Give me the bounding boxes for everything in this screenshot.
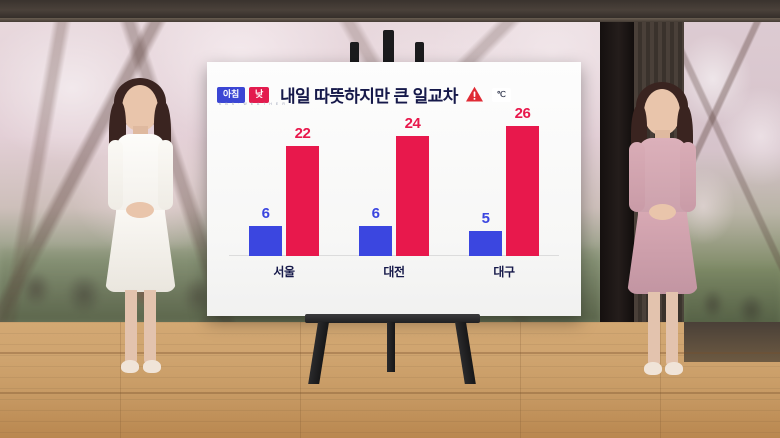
- broadcast-scene: 아침 낮 내일 따뜻하지만 큰 일교차 ℃ K B S · W E A T H …: [0, 0, 780, 438]
- bar-value-morning: 6: [249, 205, 282, 222]
- presenter-leg-right: [666, 292, 678, 366]
- easel-leg-top: [383, 30, 394, 64]
- floor-plank-line: [300, 322, 301, 438]
- bar-morning: [359, 226, 392, 256]
- presenter-leg-left: [125, 290, 137, 364]
- presenter-shoe-left: [644, 362, 662, 375]
- bar-pair: 5 26: [467, 130, 541, 256]
- bar-value-morning: 6: [359, 205, 392, 222]
- presenter-shoe-right: [143, 360, 161, 373]
- legend-badge-morning: 아침: [217, 87, 245, 103]
- chart-group-seoul: 6 22 서울: [247, 130, 321, 256]
- presenter-head: [644, 89, 680, 135]
- chart-city-label: 서울: [247, 263, 321, 280]
- floor-plank-line: [520, 322, 521, 438]
- bar-morning: [249, 226, 282, 256]
- chart-legend: 아침 낮: [217, 87, 269, 103]
- presenter-dress-skirt: [105, 210, 176, 292]
- presenter-arm-right: [158, 140, 173, 210]
- unit-label: ℃: [492, 88, 511, 102]
- presenter-head: [122, 85, 158, 131]
- presenter-right: [614, 82, 710, 400]
- board-title: 내일 따뜻하지만 큰 일교차: [280, 82, 458, 107]
- bar-day: [396, 136, 429, 256]
- bar-pair: 6 24: [357, 130, 431, 256]
- presenter-shoe-right: [665, 362, 683, 375]
- easel-leg-top: [415, 42, 424, 64]
- easel-leg-center: [387, 322, 395, 372]
- bar-morning: [469, 231, 502, 256]
- weather-board: 아침 낮 내일 따뜻하지만 큰 일교차 ℃ K B S · W E A T H …: [207, 62, 581, 316]
- presenter-arm-right: [680, 142, 696, 212]
- bar-pair: 6 22: [247, 130, 321, 256]
- bar-day: [506, 126, 539, 256]
- bar-value-morning: 5: [469, 210, 502, 227]
- chart-city-label: 대전: [357, 263, 431, 280]
- presenter-dress-skirt: [627, 212, 698, 294]
- presenter-leg-right: [144, 290, 156, 364]
- legend-subtext: K B S · W E A T H E R: [219, 102, 286, 106]
- chart-city-label: 대구: [467, 263, 541, 280]
- bar-value-day: 26: [506, 105, 539, 122]
- chart-group-daejeon: 6 24 대전: [357, 130, 431, 256]
- presenter-leg-left: [648, 292, 660, 366]
- bar-value-day: 22: [286, 125, 319, 142]
- presenter-hands: [649, 204, 676, 220]
- warning-triangle-icon: [465, 86, 484, 103]
- presenter-hands: [126, 202, 154, 218]
- easel-leg-top: [350, 42, 359, 64]
- temperature-bar-chart: 6 22 서울 6 24 대전 5: [229, 130, 559, 282]
- bar-day: [286, 146, 319, 256]
- presenter-left: [92, 78, 188, 400]
- presenter-arm-left: [108, 140, 123, 210]
- bar-value-day: 24: [396, 115, 429, 132]
- presenter-shoe-left: [121, 360, 139, 373]
- legend-badge-day: 낮: [249, 87, 269, 103]
- chart-group-daegu: 5 26 대구: [467, 130, 541, 256]
- presenter-arm-left: [629, 142, 645, 212]
